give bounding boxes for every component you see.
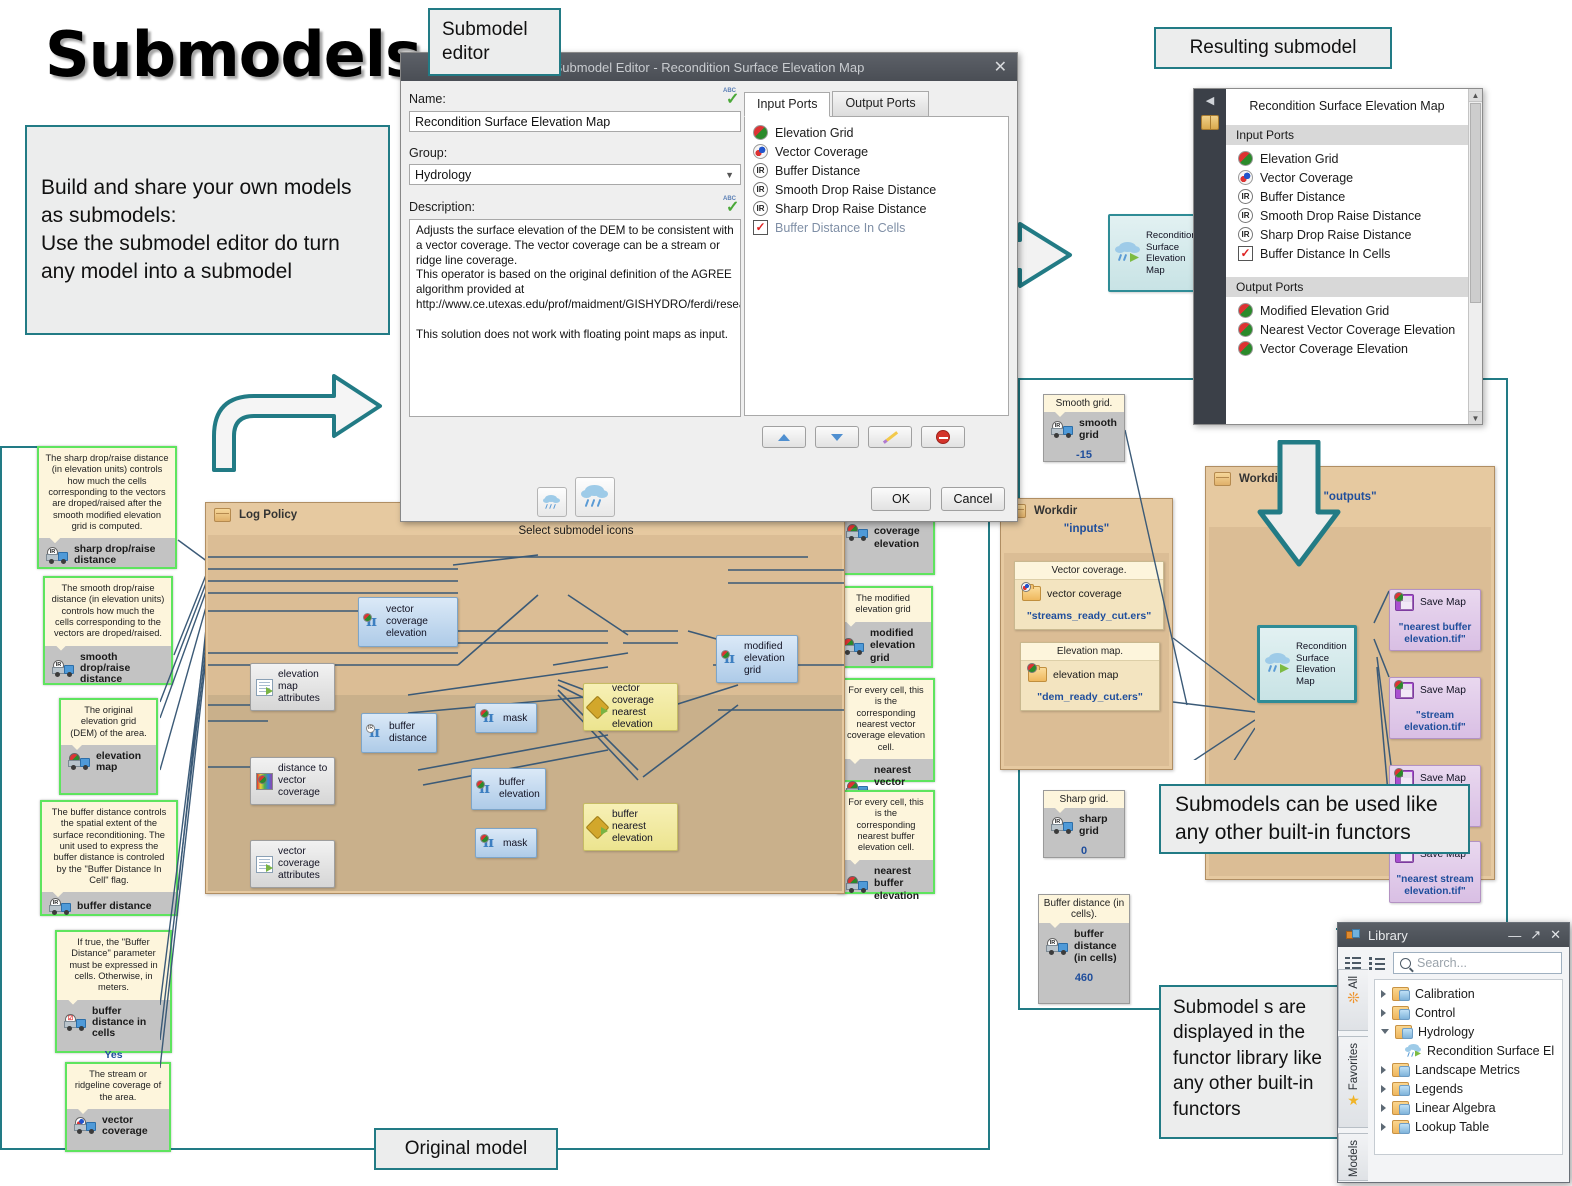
save-map-value: "nearest stream elevation.tif" bbox=[1395, 874, 1475, 898]
usage-param-buffer-distance-cells[interactable]: Buffer distance (in cells). IR buffer di… bbox=[1038, 894, 1130, 1004]
param-value-row: IR smooth drop/raise distance bbox=[45, 646, 171, 691]
param-note: For every cell, this is the correspondin… bbox=[839, 680, 933, 759]
panel-port-item[interactable]: Vector Coverage Elevation bbox=[1226, 339, 1468, 358]
grid-port-truck-icon bbox=[68, 753, 90, 770]
search-icon bbox=[1400, 958, 1411, 969]
original-model-frame-left bbox=[0, 446, 2, 1150]
search-placeholder: Search... bbox=[1417, 956, 1467, 970]
tree-item-calibration[interactable]: Calibration bbox=[1375, 984, 1562, 1003]
attributes-icon bbox=[256, 856, 273, 873]
param-value-row: elevation map bbox=[61, 745, 156, 779]
grid-icon bbox=[1238, 151, 1253, 166]
usage-param-smooth-grid[interactable]: Smooth grid. IR smooth grid -15 bbox=[1043, 394, 1125, 462]
pi-grid-icon bbox=[364, 614, 381, 631]
delete-icon bbox=[936, 430, 950, 444]
node-vector-coverage-nearest-elevation[interactable]: vector coverage nearest elevation bbox=[583, 683, 678, 731]
notch bbox=[77, 1108, 89, 1114]
port-item[interactable]: Elevation Grid bbox=[745, 123, 1008, 142]
param-note: The stream or ridgeline coverage of the … bbox=[67, 1064, 169, 1109]
param-buffer-distance-in-cells[interactable]: If true, the "Buffer Distance" parameter… bbox=[55, 930, 172, 1053]
tab-input-ports[interactable]: Input Ports bbox=[744, 92, 830, 117]
node-buffer-nearest-elevation[interactable]: buffer nearest elevation bbox=[583, 803, 678, 851]
panel-port-item[interactable]: ✓ Buffer Distance In Cells bbox=[1226, 244, 1468, 263]
pane-title: Log Policy bbox=[239, 509, 297, 521]
ir-port-truck-icon: IR bbox=[52, 660, 74, 677]
node-mask-2[interactable]: mask bbox=[475, 828, 537, 858]
port-label: Smooth Drop Raise Distance bbox=[775, 183, 936, 197]
tree-item-label: Recondition Surface El bbox=[1427, 1044, 1554, 1058]
chevron-down-icon: ▼ bbox=[725, 170, 734, 180]
rain-cloud-icon bbox=[1115, 242, 1141, 264]
tab-output-ports[interactable]: Output Ports bbox=[832, 91, 928, 116]
star-icon: ★ bbox=[1347, 1095, 1360, 1105]
description-label: Description: bbox=[409, 200, 475, 214]
panel-scrollbar[interactable]: ▲ ▼ bbox=[1468, 89, 1482, 424]
tree-item-label: Landscape Metrics bbox=[1415, 1063, 1520, 1077]
side-tab-label: All bbox=[1348, 976, 1360, 989]
name-input[interactable]: Recondition Surface Elevation Map bbox=[409, 111, 741, 132]
param-caption: Buffer distance (in cells). bbox=[1039, 895, 1129, 923]
node-label: vector coverage elevation bbox=[386, 604, 452, 640]
pi-grid-icon bbox=[481, 710, 498, 727]
save-map-node-1[interactable]: Save Map "nearest buffer elevation.tif" bbox=[1389, 589, 1481, 651]
port-label: Buffer Distance In Cells bbox=[775, 221, 905, 235]
param-smooth-drop-raise[interactable]: The smooth drop/raise distance (in eleva… bbox=[43, 576, 173, 685]
notch bbox=[71, 744, 83, 750]
intro-callout-text: Build and share your own models as submo… bbox=[41, 174, 374, 287]
diamond-icon bbox=[589, 818, 607, 836]
ir-port-truck-icon: IR bbox=[1051, 421, 1073, 438]
param-label: smooth drop/raise distance bbox=[80, 652, 164, 685]
save-map-title: Save Map bbox=[1420, 685, 1466, 696]
ir-port-truck-icon: IR bbox=[49, 898, 71, 915]
panel-port-item[interactable]: IR Smooth Drop Raise Distance bbox=[1226, 206, 1468, 225]
param-label: elevation map bbox=[96, 751, 149, 773]
node-label: distance to vector coverage bbox=[278, 763, 329, 799]
usage-frame-bottom bbox=[1018, 1008, 1170, 1010]
diamond-icon bbox=[589, 698, 607, 716]
param-sharp-drop-raise[interactable]: The sharp drop/raise distance (in elevat… bbox=[37, 446, 177, 569]
node-label: modified elevation grid bbox=[744, 641, 792, 677]
minimize-icon[interactable]: — bbox=[1508, 928, 1521, 943]
param-label: sharp drop/raise distance bbox=[74, 544, 168, 566]
node-label: mask bbox=[503, 713, 527, 724]
scroll-down-arrow[interactable]: ▼ bbox=[1469, 411, 1482, 424]
ir-icon: IR bbox=[1238, 227, 1253, 242]
port-label: Buffer Distance bbox=[775, 164, 860, 178]
param-label: nearest buffer elevation bbox=[874, 866, 926, 903]
panel-port-item[interactable]: Vector Coverage bbox=[1226, 168, 1468, 187]
node-distance-to-vector-coverage[interactable]: distance to vector coverage bbox=[250, 757, 335, 805]
used-like-builtin-callout: Submodels can be used like any other bui… bbox=[1159, 784, 1470, 854]
grid-icon bbox=[1238, 341, 1253, 356]
original-model-connector-right bbox=[558, 1148, 990, 1150]
panel-port-label: Buffer Distance In Cells bbox=[1260, 247, 1390, 261]
group-select[interactable]: Hydrology ▼ bbox=[409, 164, 741, 185]
notch bbox=[1054, 807, 1066, 813]
rain-cloud-large-icon bbox=[581, 485, 609, 509]
port-toolbar[interactable] bbox=[744, 426, 1009, 448]
panel-port-label: Vector Coverage Elevation bbox=[1260, 342, 1408, 356]
grid-port-truck-icon bbox=[846, 524, 868, 541]
panel-port-label: Sharp Drop Raise Distance bbox=[1260, 228, 1411, 242]
port-item[interactable]: IR Smooth Drop Raise Distance bbox=[745, 180, 1008, 199]
param-vector-coverage[interactable]: The stream or ridgeline coverage of the … bbox=[65, 1062, 171, 1152]
panel-port-label: Buffer Distance bbox=[1260, 190, 1345, 204]
group-label: Group: bbox=[409, 146, 741, 160]
node-label: vector coverage nearest elevation bbox=[612, 683, 672, 731]
panel-output-ports: Modified Elevation Grid Nearest Vector C… bbox=[1226, 297, 1468, 362]
param-label: sharp grid bbox=[1079, 813, 1117, 837]
file-label: elevation map bbox=[1053, 669, 1118, 681]
notch bbox=[1054, 411, 1066, 417]
usage-param-sharp-grid[interactable]: Sharp grid. IR sharp grid 0 bbox=[1043, 790, 1125, 858]
notch bbox=[845, 621, 857, 627]
side-tab-label: Favorites bbox=[1348, 1043, 1360, 1090]
save-map-value: "stream elevation.tif" bbox=[1395, 710, 1475, 734]
save-map-title: Save Map bbox=[1420, 773, 1466, 784]
grid-icon bbox=[753, 125, 768, 140]
panel-port-label: Vector Coverage bbox=[1260, 171, 1353, 185]
checkbox-icon: ✓ bbox=[753, 220, 768, 235]
node-vector-coverage-elevation[interactable]: vector coverage elevation bbox=[358, 597, 458, 647]
spellcheck-icon bbox=[723, 91, 741, 107]
node-label: buffer nearest elevation bbox=[612, 809, 672, 845]
move-down-button[interactable] bbox=[815, 426, 859, 448]
displayed-in-library-callout: Submodel s are displayed in the functor … bbox=[1159, 985, 1341, 1139]
notch bbox=[52, 891, 64, 897]
node-modified-elevation-grid[interactable]: modified elevation grid bbox=[716, 635, 798, 683]
submodel-node-label: Recondition Surface Elevation Map bbox=[1296, 641, 1349, 687]
notch bbox=[67, 999, 79, 1005]
scroll-up-arrow[interactable]: ▲ bbox=[1469, 89, 1482, 102]
tree-item-legends[interactable]: Legends bbox=[1375, 1079, 1562, 1098]
arrow-model-to-editor bbox=[208, 352, 388, 482]
grid-icon bbox=[1238, 303, 1253, 318]
library-side-tabs[interactable]: All ❊ Favorites ★ Models bbox=[1338, 969, 1372, 1186]
icon-picker[interactable]: Select submodel icons bbox=[511, 477, 641, 537]
page-title: Submodels bbox=[45, 18, 421, 91]
restore-icon[interactable]: ↗ bbox=[1530, 927, 1541, 943]
chevron-right-icon[interactable] bbox=[1381, 1066, 1386, 1074]
param-value: 460 bbox=[1039, 969, 1129, 991]
notch bbox=[49, 537, 61, 543]
node-label: vector coverage attributes bbox=[278, 846, 329, 882]
package-icon bbox=[214, 508, 231, 522]
dialog-body: Name: Recondition Surface Elevation Map … bbox=[401, 81, 1017, 521]
tree-item-linear-algebra[interactable]: Linear Algebra bbox=[1375, 1098, 1562, 1117]
node-mask-1[interactable]: mask bbox=[475, 703, 537, 733]
log-policy-pane[interactable]: Log Policy bbox=[205, 502, 845, 894]
output-modified-elevation-grid[interactable]: The modified elevation grid modified ele… bbox=[833, 586, 933, 668]
port-label: Sharp Drop Raise Distance bbox=[775, 202, 926, 216]
folder-icon bbox=[1392, 1082, 1409, 1096]
param-value-row: modified elevation grid bbox=[835, 622, 931, 671]
param-label: modified elevation grid bbox=[870, 628, 924, 665]
port-item[interactable]: IR Buffer Distance bbox=[745, 161, 1008, 180]
tree-item-lookup-table[interactable]: Lookup Table bbox=[1375, 1117, 1562, 1136]
checkbox-port-truck-icon: ☑ bbox=[64, 1014, 86, 1031]
tree-item-hydrology[interactable]: Hydrology bbox=[1375, 1022, 1562, 1041]
tree-item-landscape-metrics[interactable]: Landscape Metrics bbox=[1375, 1060, 1562, 1079]
submodel-editor-tag-text: Submodel editor bbox=[442, 18, 528, 66]
tree-item-label: Linear Algebra bbox=[1415, 1101, 1496, 1115]
node-vector-coverage-attributes[interactable]: vector coverage attributes bbox=[250, 840, 335, 888]
output-nearest-buffer-elevation[interactable]: For every cell, this is the correspondin… bbox=[837, 790, 935, 894]
panel-port-item[interactable]: Nearest Vector Coverage Elevation bbox=[1226, 320, 1468, 339]
pi-grid-icon bbox=[477, 781, 494, 798]
resulting-submodel-tag: Resulting submodel bbox=[1154, 27, 1392, 69]
node-label: elevation map attributes bbox=[278, 669, 329, 705]
rain-cloud-icon bbox=[1405, 1044, 1421, 1058]
param-label: vector coverage bbox=[102, 1115, 162, 1137]
submodel-editor-dialog[interactable]: Submodel Editor - Recondition Surface El… bbox=[400, 52, 1018, 522]
panel-port-label: Smooth Drop Raise Distance bbox=[1260, 209, 1421, 223]
triangle-down-icon bbox=[831, 434, 843, 441]
library-icon bbox=[1346, 929, 1361, 942]
grid-port-truck-icon bbox=[846, 876, 868, 893]
param-value-row: ☑ buffer distance in cells bbox=[57, 1000, 170, 1045]
attributes-icon bbox=[256, 679, 273, 696]
vector-port-truck-icon bbox=[74, 1117, 96, 1134]
node-label: buffer distance bbox=[389, 721, 431, 745]
node-buffer-elevation[interactable]: buffer elevation bbox=[471, 768, 546, 810]
rain-cloud-small-icon bbox=[543, 495, 561, 510]
editor-right-column: Input Ports Output Ports Elevation Grid … bbox=[744, 91, 1009, 448]
ir-port-truck-icon: IR bbox=[1051, 817, 1073, 834]
pane-title: Workdir bbox=[1034, 505, 1077, 517]
panel-port-label: Elevation Grid bbox=[1260, 152, 1339, 166]
node-label: buffer elevation bbox=[499, 777, 540, 801]
rain-cloud-icon bbox=[1265, 653, 1291, 675]
pencil-icon bbox=[882, 431, 897, 444]
small-cloud-icon-slot[interactable] bbox=[537, 487, 567, 517]
side-tab-models[interactable]: Models bbox=[1338, 1133, 1368, 1181]
folder-icon bbox=[1392, 987, 1409, 1001]
param-note: The buffer distance controls the spatial… bbox=[42, 802, 176, 892]
folder-icon bbox=[1392, 1120, 1409, 1134]
chevron-right-icon[interactable] bbox=[1381, 990, 1386, 998]
param-value-row: vector coverage bbox=[67, 1109, 169, 1143]
param-buffer-distance[interactable]: The buffer distance controls the spatial… bbox=[40, 800, 178, 916]
save-map-icon bbox=[1395, 594, 1414, 611]
port-tabs[interactable]: Input Ports Output Ports bbox=[744, 91, 1009, 116]
param-note: The modified elevation grid bbox=[835, 588, 931, 622]
original-model-tag-text: Original model bbox=[405, 1137, 528, 1161]
input-ports-list[interactable]: Elevation Grid Vector Coverage IR Buffer… bbox=[744, 116, 1009, 416]
chevron-right-icon[interactable] bbox=[1381, 1085, 1386, 1093]
pi-grid-icon bbox=[481, 835, 498, 852]
side-tab-favorites[interactable]: Favorites ★ bbox=[1338, 1036, 1368, 1128]
displayed-in-library-text: Submodel s are displayed in the functor … bbox=[1173, 995, 1327, 1122]
asterisk-icon: ❊ bbox=[1347, 994, 1360, 1004]
vector-folder-icon bbox=[1022, 586, 1041, 601]
ir-icon: IR bbox=[1238, 208, 1253, 223]
tree-view-icon[interactable] bbox=[1345, 956, 1361, 970]
library-window-buttons[interactable]: — ↗ ✕ bbox=[1508, 927, 1561, 943]
folder-icon bbox=[1392, 1101, 1409, 1115]
section-title-output-ports: Output Ports bbox=[1226, 277, 1468, 297]
panel-side-rail: ◀ bbox=[1194, 89, 1226, 424]
icon-picker-label: Select submodel icons bbox=[511, 525, 641, 537]
tree-item-label: Legends bbox=[1415, 1082, 1463, 1096]
panel-port-label: Modified Elevation Grid bbox=[1260, 304, 1389, 318]
param-note: The smooth drop/raise distance (in eleva… bbox=[45, 578, 171, 646]
panel-port-item[interactable]: IR Sharp Drop Raise Distance bbox=[1226, 225, 1468, 244]
ir-icon: IR bbox=[753, 201, 768, 216]
folder-icon bbox=[1392, 1006, 1409, 1020]
file-label: vector coverage bbox=[1047, 588, 1122, 600]
library-window[interactable]: Library — ↗ ✕ Search... All ❊ Favor bbox=[1337, 922, 1570, 1183]
vector-icon bbox=[1238, 170, 1253, 185]
notch bbox=[849, 859, 861, 865]
folder-icon bbox=[1395, 1025, 1412, 1039]
notch bbox=[849, 758, 861, 764]
port-label: Elevation Grid bbox=[775, 126, 854, 140]
ir-icon: IR bbox=[753, 182, 768, 197]
output-nearest-vector-coverage-elevation[interactable]: For every cell, this is the correspondin… bbox=[837, 678, 935, 782]
param-caption: Smooth grid. bbox=[1044, 395, 1124, 412]
port-item[interactable]: IR Sharp Drop Raise Distance bbox=[745, 199, 1008, 218]
panel-port-item[interactable]: Modified Elevation Grid bbox=[1226, 301, 1468, 320]
used-like-builtin-text: Submodels can be used like any other bui… bbox=[1175, 791, 1454, 847]
tree-item-label: Hydrology bbox=[1418, 1025, 1474, 1039]
intro-callout: Build and share your own models as submo… bbox=[25, 125, 390, 335]
usage-input-edges bbox=[1125, 420, 1255, 760]
original-model-tag: Original model bbox=[374, 1128, 558, 1170]
grid-folder-icon bbox=[1028, 667, 1047, 682]
section-title-input-ports: Input Ports bbox=[1226, 125, 1468, 145]
panel-content: Recondition Surface Elevation Map Input … bbox=[1226, 89, 1468, 424]
tree-item-recondition-surface-elevation[interactable]: Recondition Surface El bbox=[1375, 1041, 1562, 1060]
pi-grid-icon bbox=[722, 651, 739, 668]
library-toolbar[interactable]: Search... bbox=[1338, 947, 1569, 979]
panel-port-item[interactable]: IR Buffer Distance bbox=[1226, 187, 1468, 206]
name-label: Name: bbox=[409, 92, 446, 106]
tree-item-control[interactable]: Control bbox=[1375, 1003, 1562, 1022]
ir-port-truck-icon: IR bbox=[46, 547, 68, 564]
param-value: 0 bbox=[1044, 842, 1124, 864]
resulting-submodel-panel[interactable]: ◀ Recondition Surface Elevation Map Inpu… bbox=[1193, 88, 1483, 425]
checkbox-icon: ✓ bbox=[1238, 246, 1253, 261]
chevron-right-icon[interactable] bbox=[1381, 1104, 1386, 1112]
param-elevation-map[interactable]: The original elevation grid (DEM) of the… bbox=[59, 698, 158, 795]
book-icon[interactable] bbox=[1201, 115, 1219, 130]
param-caption: Sharp grid. bbox=[1044, 791, 1124, 808]
param-value: -15 bbox=[1044, 446, 1124, 468]
collapse-icon[interactable]: ◀ bbox=[1194, 89, 1226, 107]
param-value-row: nearest buffer elevation bbox=[839, 860, 933, 909]
param-value-row: IR smooth grid bbox=[1044, 412, 1124, 446]
param-label: smooth grid bbox=[1079, 417, 1117, 441]
param-label: buffer distance (in cells) bbox=[1074, 928, 1122, 964]
save-map-value: "nearest buffer elevation.tif" bbox=[1395, 622, 1475, 646]
close-icon[interactable]: ✕ bbox=[1550, 927, 1561, 943]
ok-button[interactable]: OK bbox=[871, 487, 931, 511]
library-titlebar[interactable]: Library — ↗ ✕ bbox=[1338, 923, 1569, 947]
triangle-up-icon bbox=[778, 434, 790, 441]
dialog-buttons[interactable]: OK Cancel bbox=[871, 487, 1005, 511]
tree-item-label: Lookup Table bbox=[1415, 1120, 1489, 1134]
notch bbox=[55, 645, 67, 651]
panel-input-ports: Elevation Grid Vector Coverage IR Buffer… bbox=[1226, 145, 1468, 269]
library-title: Library bbox=[1368, 928, 1408, 943]
description-textarea[interactable]: Adjusts the surface elevation of the DEM… bbox=[409, 219, 741, 417]
group-select-value: Hydrology bbox=[415, 168, 471, 182]
save-map-node-2[interactable]: Save Map "stream elevation.tif" bbox=[1389, 677, 1481, 739]
panel-port-label: Nearest Vector Coverage Elevation bbox=[1260, 323, 1455, 337]
param-value-row: IR buffer distance bbox=[42, 892, 176, 921]
ir-port-truck-icon: IR bbox=[1046, 938, 1068, 955]
side-tab-label: Models bbox=[1348, 1140, 1360, 1177]
notch bbox=[1049, 922, 1061, 928]
port-item[interactable]: Vector Coverage bbox=[745, 142, 1008, 161]
delete-button[interactable] bbox=[921, 426, 965, 448]
cancel-button[interactable]: Cancel bbox=[941, 487, 1005, 511]
chevron-right-icon[interactable] bbox=[1381, 1009, 1386, 1017]
grid-port-truck-icon bbox=[842, 638, 864, 655]
side-tab-all[interactable]: All ❊ bbox=[1338, 969, 1368, 1031]
param-value-row: IR sharp drop/raise distance bbox=[39, 538, 175, 572]
port-label: Vector Coverage bbox=[775, 145, 868, 159]
chevron-down-icon[interactable] bbox=[1381, 1029, 1389, 1034]
save-map-icon bbox=[1395, 682, 1414, 699]
param-label: buffer distance bbox=[77, 901, 151, 912]
large-cloud-icon-slot[interactable] bbox=[575, 477, 615, 517]
node-elevation-map-attributes[interactable]: elevation map attributes bbox=[250, 663, 335, 711]
node-buffer-distance[interactable]: IR buffer distance bbox=[361, 713, 437, 753]
original-model-frame-top bbox=[0, 446, 38, 448]
editor-left-column: Name: Recondition Surface Elevation Map … bbox=[409, 91, 741, 417]
move-up-button[interactable] bbox=[762, 426, 806, 448]
param-note: The original elevation grid (DEM) of the… bbox=[61, 700, 156, 745]
port-item[interactable]: ✓ Buffer Distance In Cells bbox=[745, 218, 1008, 237]
scroll-thumb[interactable] bbox=[1470, 103, 1481, 303]
pane-inner: vector coverage elevation elevation map … bbox=[208, 535, 842, 891]
param-label: buffer distance in cells bbox=[92, 1006, 163, 1039]
dialog-title: Submodel Editor - Recondition Surface El… bbox=[554, 60, 865, 75]
panel-header: Recondition Surface Elevation Map bbox=[1226, 89, 1468, 125]
param-note: The sharp drop/raise distance (in elevat… bbox=[39, 448, 175, 538]
param-note: If true, the "Buffer Distance" parameter… bbox=[57, 932, 170, 1000]
chevron-right-icon[interactable] bbox=[1381, 1123, 1386, 1131]
spellcheck-icon-2 bbox=[723, 199, 741, 215]
pi-ir-icon: IR bbox=[367, 725, 384, 742]
library-tree[interactable]: Calibration Control Hydrology Reconditio… bbox=[1374, 979, 1563, 1155]
param-value-row: IR sharp grid bbox=[1044, 808, 1124, 842]
node-label: mask bbox=[503, 838, 527, 849]
ir-icon: IR bbox=[753, 163, 768, 178]
arrow-submodel-to-outputs bbox=[1252, 440, 1348, 568]
submodel-editor-tag: Submodel editor bbox=[428, 8, 561, 76]
close-icon[interactable]: ✕ bbox=[994, 57, 1007, 77]
param-value-row: IR buffer distance (in cells) bbox=[1039, 923, 1129, 969]
submodel-node-in-use[interactable]: Recondition Surface Elevation Map bbox=[1257, 625, 1357, 703]
param-note: For every cell, this is the correspondin… bbox=[839, 792, 933, 860]
list-view-icon[interactable] bbox=[1369, 956, 1385, 970]
tree-item-label: Control bbox=[1415, 1006, 1455, 1020]
vector-icon bbox=[753, 144, 768, 159]
resulting-submodel-tag-text: Resulting submodel bbox=[1190, 36, 1357, 60]
edit-button[interactable] bbox=[868, 426, 912, 448]
usage-frame-right bbox=[1506, 378, 1508, 930]
panel-port-item[interactable]: Elevation Grid bbox=[1226, 149, 1468, 168]
save-map-title: Save Map bbox=[1420, 597, 1466, 608]
grid-icon bbox=[1238, 322, 1253, 337]
color-ramp-icon bbox=[256, 773, 273, 790]
search-input[interactable]: Search... bbox=[1393, 952, 1562, 974]
ir-icon: IR bbox=[1238, 189, 1253, 204]
